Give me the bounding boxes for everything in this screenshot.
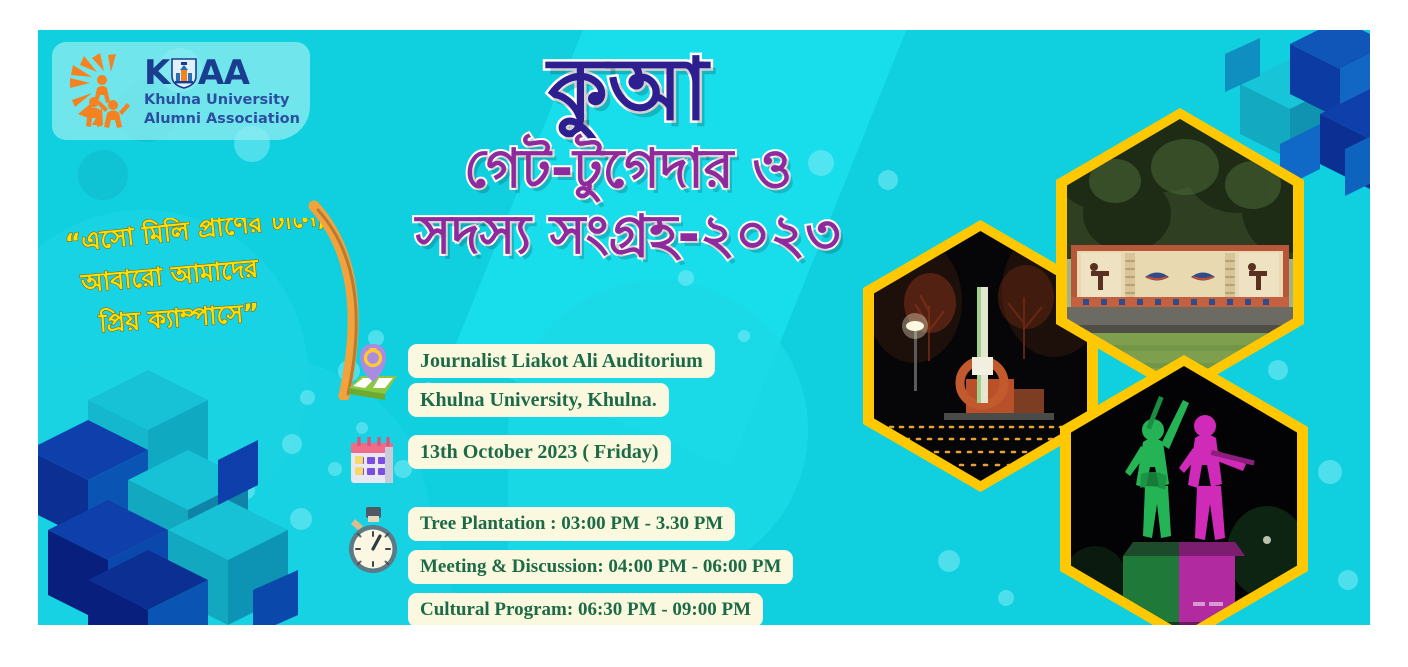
date-lines: 13th October 2023 ( Friday): [408, 431, 671, 469]
bubble-dot: [938, 550, 960, 572]
people-burst-icon: [64, 52, 150, 132]
kuaa-logo-panel: K AA Khulna University Alumni Associatio…: [52, 42, 310, 140]
event-title-sub-line2: সদস্য সংগ্রহ-২০২৩: [338, 202, 918, 268]
bubble-dot: [998, 590, 1014, 606]
venue-line-2: Khulna University, Khulna.: [408, 383, 669, 417]
bubble-dot: [1268, 360, 1288, 380]
bubble-dot: [78, 150, 128, 200]
date-line-1: 13th October 2023 ( Friday): [408, 435, 671, 469]
location-pin-icon: [338, 340, 408, 402]
kuaa-letter-k: K: [144, 56, 170, 90]
venue-row: Journalist Liakot Ali Auditorium Khulna …: [338, 340, 898, 417]
schedule-line-3: Cultural Program: 06:30 PM - 09:00 PM: [408, 593, 763, 625]
kuaa-subtitle-line1: Khulna University: [144, 92, 300, 109]
schedule-line-1: Tree Plantation : 03:00 PM - 3.30 PM: [408, 507, 735, 541]
bubble-dot: [678, 270, 694, 286]
slogan-line-3: প্রিয় ক্যাম্পাসে”: [97, 297, 260, 338]
bubble-dot: [1318, 460, 1342, 484]
schedule-row: Tree Plantation : 03:00 PM - 3.30 PM Mee…: [338, 503, 898, 625]
venue-lines: Journalist Liakot Ali Auditorium Khulna …: [408, 340, 715, 417]
event-banner: K AA Khulna University Alumni Associatio…: [38, 30, 1370, 625]
event-title-main: কুআ: [338, 44, 918, 136]
kuaa-letters-aa: AA: [198, 56, 250, 90]
slogan-line-1: “এসো মিলি প্রাণের টানে,: [63, 218, 327, 258]
venue-line-1: Journalist Liakot Ali Auditorium: [408, 344, 715, 378]
kuaa-subtitle-line2: Alumni Association: [144, 111, 300, 128]
stopwatch-icon: [338, 503, 408, 575]
calendar-icon: [338, 431, 408, 489]
event-title-sub-line1: গেট-টুগেদার ও: [338, 136, 918, 202]
kuaa-acronym: K AA: [144, 56, 300, 90]
kuaa-logo-text: K AA Khulna University Alumni Associatio…: [144, 56, 300, 128]
bengali-slogan: “এসো মিলি প্রাণের টানে, আবারো আমাদের প্র…: [56, 218, 336, 348]
schedule-lines: Tree Plantation : 03:00 PM - 3.30 PM Mee…: [408, 503, 793, 625]
bubble-dot: [1338, 570, 1358, 590]
event-details: Journalist Liakot Ali Auditorium Khulna …: [338, 340, 898, 625]
schedule-line-2: Meeting & Discussion: 04:00 PM - 06:00 P…: [408, 550, 793, 584]
event-title-block: কুআ গেট-টুগেদার ও সদস্য সংগ্রহ-২০২৩: [338, 44, 918, 268]
date-row: 13th October 2023 ( Friday): [338, 431, 898, 489]
slogan-line-2: আবারো আমাদের: [79, 254, 260, 299]
khulna-university-crest-icon: [171, 57, 197, 89]
